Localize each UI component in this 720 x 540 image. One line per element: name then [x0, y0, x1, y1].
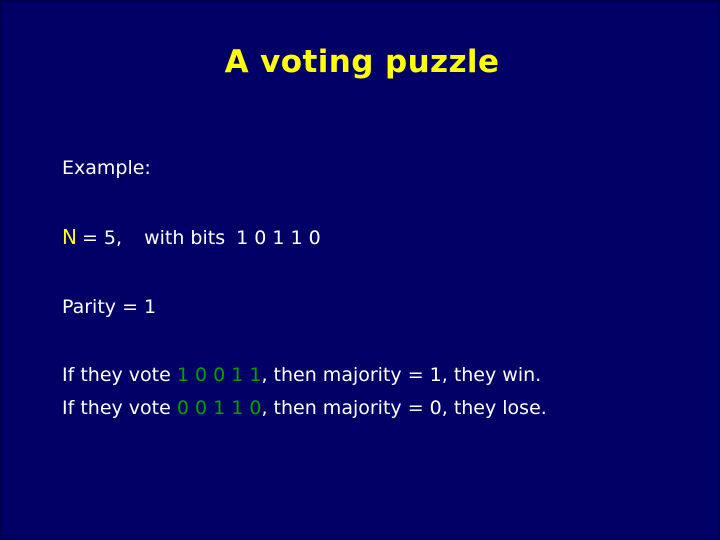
example-label: Example: — [62, 157, 151, 179]
n-symbol: N — [62, 225, 77, 249]
vote-outcome-line-lose: If they vote 0 0 1 1 0, then majority = … — [62, 397, 682, 419]
slide-body: Example: N= 5,with bits1 0 1 1 0 Parity … — [62, 157, 682, 419]
vote-suffix: , then majority = 0, they lose. — [261, 397, 546, 419]
page-title: A voting puzzle — [2, 42, 720, 82]
example-label-line: Example: — [62, 157, 682, 179]
vote-prefix: If they vote — [62, 397, 177, 419]
bits-label: with bits — [144, 227, 225, 249]
presentation-slide: A voting puzzle Example: N= 5,with bits1… — [0, 0, 720, 540]
n-definition-line: N= 5,with bits1 0 1 1 0 — [62, 226, 682, 249]
vote-prefix: If they vote — [62, 364, 177, 386]
parity-line: Parity = 1 — [62, 296, 682, 318]
vote-suffix: , then majority = 1, they win. — [261, 364, 541, 386]
parity-value: Parity = 1 — [62, 296, 156, 318]
n-assignment: = 5, — [82, 227, 122, 249]
vote-outcome-line-win: If they vote 1 0 0 1 1, then majority = … — [62, 364, 682, 386]
vote-bits: 0 0 1 1 0 — [177, 397, 262, 419]
bits-value: 1 0 1 1 0 — [236, 227, 321, 249]
vote-bits: 1 0 0 1 1 — [177, 364, 262, 386]
